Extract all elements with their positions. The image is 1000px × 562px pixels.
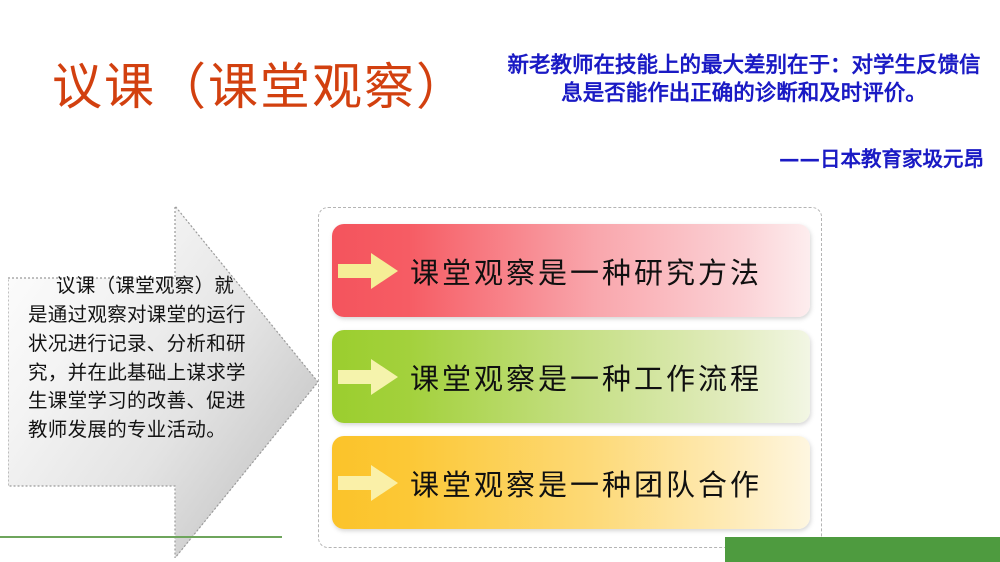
bar-label: 课堂观察是一种团队合作 bbox=[410, 462, 762, 504]
slide-canvas: 议课（课堂观察） 新老教师在技能上的最大差别在于：对学生反馈信息是否能作出正确的… bbox=[0, 0, 1000, 562]
bottom-green-block bbox=[725, 537, 1000, 562]
bar-label: 课堂观察是一种研究方法 bbox=[410, 250, 762, 292]
right-arrow-icon bbox=[338, 251, 398, 291]
bar-item[interactable]: 课堂观察是一种研究方法 bbox=[332, 224, 810, 317]
bottom-divider-line bbox=[0, 536, 282, 538]
right-arrow-icon bbox=[338, 357, 398, 397]
right-arrow-icon bbox=[338, 463, 398, 503]
bar-item[interactable]: 课堂观察是一种团队合作 bbox=[332, 436, 810, 529]
bar-label: 课堂观察是一种工作流程 bbox=[410, 356, 762, 398]
page-title: 议课（课堂观察） bbox=[52, 62, 468, 112]
bar-item[interactable]: 课堂观察是一种工作流程 bbox=[332, 330, 810, 423]
bars-panel: 课堂观察是一种研究方法 课堂观察是一种工作流程 课堂观察是一种团队合作 bbox=[318, 207, 822, 548]
quote-attribution: ——日本教育家圾元昂 bbox=[498, 142, 990, 172]
quote-text: 新老教师在技能上的最大差别在于：对学生反馈信息是否能作出正确的诊断和及时评价。 bbox=[498, 52, 990, 109]
arrow-callout-text: 议课（课堂观察）就是通过观察对课堂的运行状况进行记录、分析和研究，并在此基础上谋… bbox=[28, 272, 246, 445]
